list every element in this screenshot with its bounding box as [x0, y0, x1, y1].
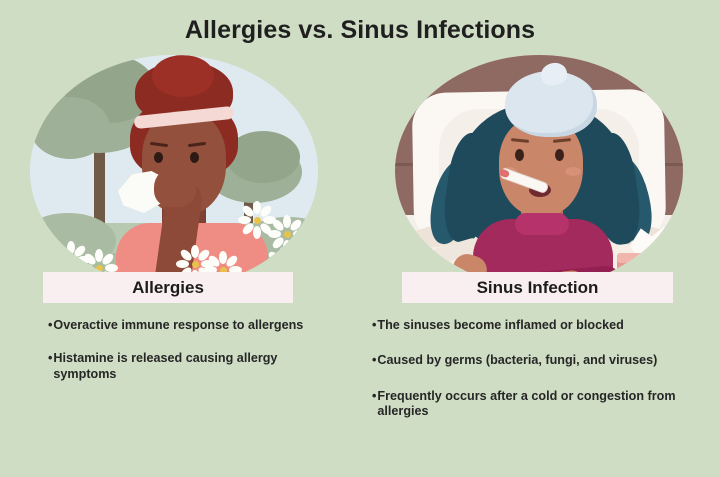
tissue-box-lid [617, 253, 679, 263]
flower-center [284, 231, 291, 238]
bullet-item: • Frequently occurs after a cold or cong… [372, 389, 702, 420]
panel-allergies: Allergies [23, 55, 323, 305]
bullet-text: Histamine is released causing allergy sy… [53, 351, 338, 382]
page-title: Allergies vs. Sinus Infections [0, 16, 720, 45]
sinus-infection-illustration [395, 55, 683, 287]
bullet-text: The sinuses become inflamed or blocked [377, 318, 702, 333]
bullet-item: • Caused by germs (bacteria, fungi, and … [372, 353, 702, 368]
bullet-item: • Histamine is released causing allergy … [48, 351, 338, 382]
collar [515, 213, 569, 235]
thermometer-tip [498, 168, 510, 178]
daisy-flower-icon [244, 207, 270, 233]
bullet-marker: • [48, 318, 52, 333]
daisy-flower-icon [274, 221, 300, 247]
bullet-marker: • [372, 318, 376, 333]
bullet-marker: • [48, 351, 52, 382]
infographic-root: Allergies vs. Sinus Infections [0, 0, 720, 477]
hair-bun-top [152, 55, 214, 97]
flower-center [96, 265, 103, 272]
cheek [565, 167, 581, 176]
eye [555, 149, 564, 161]
eye [190, 152, 199, 163]
flower-center [192, 261, 199, 268]
bullet-text: Overactive immune response to allergens [53, 318, 338, 333]
tree-crown-icon [30, 97, 110, 159]
bullet-list-sinus-infection: • The sinuses become inflamed or blocked… [372, 318, 702, 439]
bullet-item: • The sinuses become inflamed or blocked [372, 318, 702, 333]
caption-sinus-infection: Sinus Infection [402, 272, 673, 303]
flower-center [254, 217, 261, 224]
eye [154, 152, 163, 163]
panel-sinus-infection: Sinus Infection [388, 55, 688, 305]
bullet-marker: • [372, 353, 376, 368]
allergies-illustration [30, 55, 318, 287]
bullet-text: Caused by germs (bacteria, fungi, and vi… [377, 353, 702, 368]
eye [515, 149, 524, 161]
flower-center [68, 257, 75, 264]
flower-center [280, 263, 287, 270]
bullet-list-allergies: • Overactive immune response to allergen… [48, 318, 338, 400]
bullet-item: • Overactive immune response to allergen… [48, 318, 338, 333]
bullet-marker: • [372, 389, 376, 420]
bullet-text: Frequently occurs after a cold or conges… [377, 389, 702, 420]
hand [154, 167, 196, 207]
caption-allergies: Allergies [43, 272, 293, 303]
